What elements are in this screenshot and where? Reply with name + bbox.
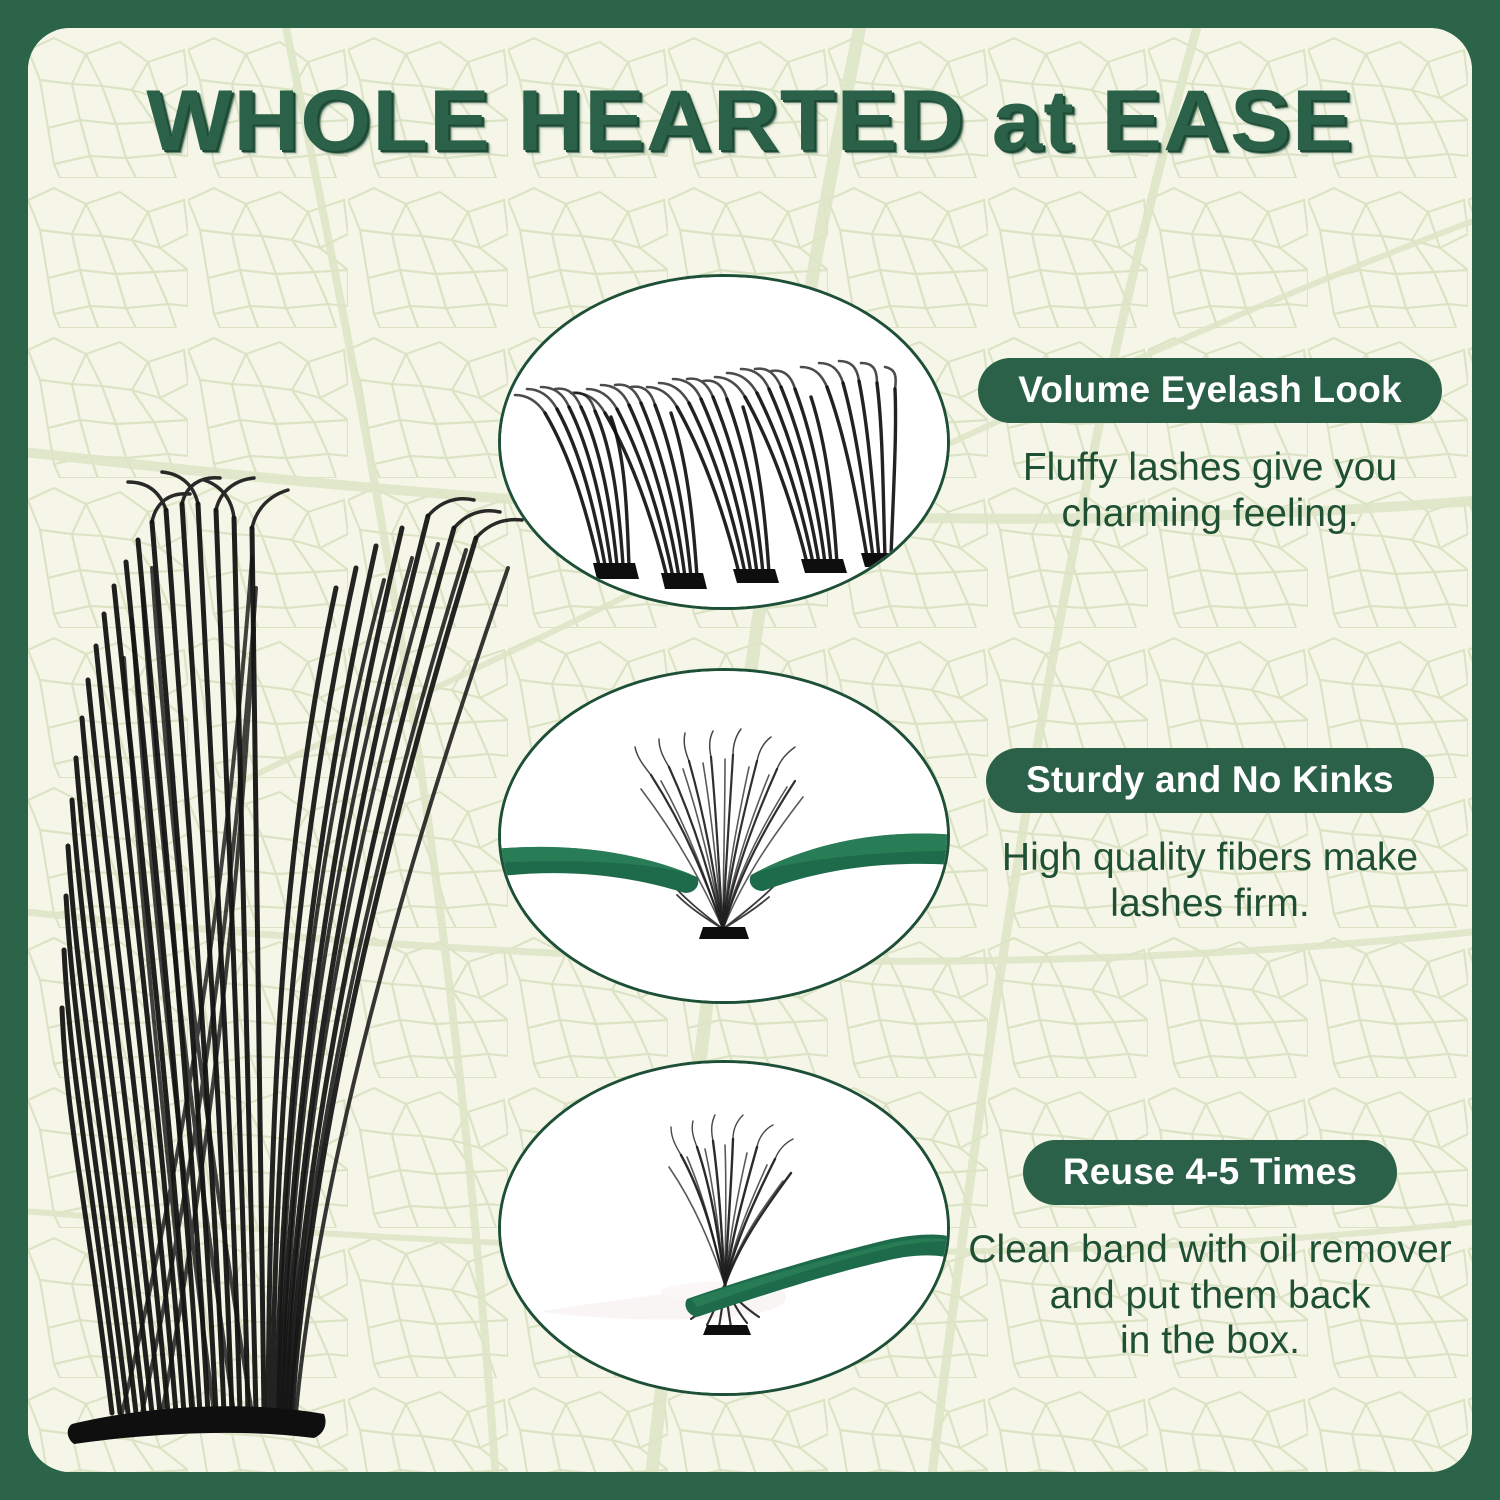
lash-row-closeup-graphic xyxy=(501,277,947,607)
product-infographic: Volume Eyelash Look Fluffy lashes give y… xyxy=(0,0,1500,1500)
content-panel: Volume Eyelash Look Fluffy lashes give y… xyxy=(28,28,1472,1472)
bubble-tweezers-lifting-lash xyxy=(498,1060,950,1396)
feature-badge-sturdy-and-no-kinks[interactable]: Sturdy and No Kinks xyxy=(986,748,1434,813)
bubble-lash-row-closeup xyxy=(498,274,950,610)
feature-desc-reuse-4-5-times: Clean band with oil remover and put them… xyxy=(960,1227,1460,1364)
feature-block-1: Volume Eyelash Look Fluffy lashes give y… xyxy=(960,358,1460,536)
bubble-tweezers-holding-lash xyxy=(498,668,950,1004)
page-title: WHOLE HEARTED at EASE xyxy=(0,72,1500,171)
hero-lash-cluster-image xyxy=(56,228,526,1468)
tweezers-lifting-lash-graphic xyxy=(501,1063,947,1393)
feature-desc-volume-eyelash-look: Fluffy lashes give you charming feeling. xyxy=(960,445,1460,536)
feature-block-3: Reuse 4-5 Times Clean band with oil remo… xyxy=(960,1140,1460,1364)
feature-badge-volume-eyelash-look[interactable]: Volume Eyelash Look xyxy=(978,358,1442,423)
feature-badge-reuse-4-5-times[interactable]: Reuse 4-5 Times xyxy=(1023,1140,1397,1205)
tweezers-holding-lash-graphic xyxy=(501,671,947,1001)
feature-block-2: Sturdy and No Kinks High quality fibers … xyxy=(960,748,1460,926)
feature-desc-sturdy-and-no-kinks: High quality fibers make lashes firm. xyxy=(960,835,1460,926)
